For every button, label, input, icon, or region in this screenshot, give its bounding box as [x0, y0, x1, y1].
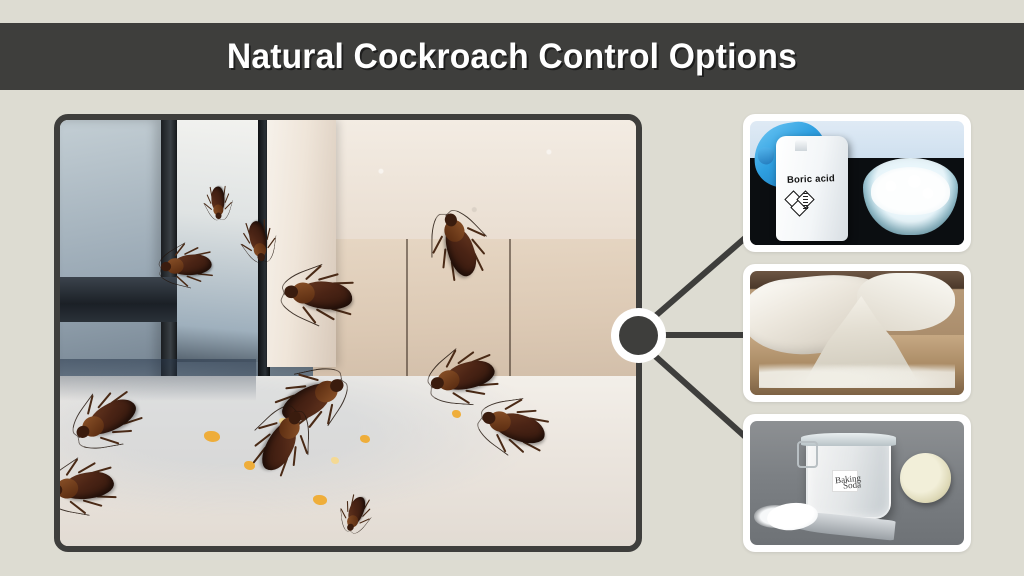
jar-label-line2: Soda	[842, 480, 861, 491]
hub-node[interactable]	[611, 308, 666, 363]
hub-node-dot	[619, 316, 658, 355]
label-fineprint	[803, 193, 807, 210]
diatomaceous-earth-image	[750, 271, 964, 395]
photo-door-threshold	[60, 277, 177, 322]
food-crumb	[313, 495, 327, 505]
main-photo-frame	[54, 114, 642, 552]
cockroach-infestation-photo	[60, 120, 636, 546]
glove-finger	[758, 147, 776, 165]
glass-jar: Baking Soda	[806, 437, 892, 519]
baking-soda-image: Baking Soda	[750, 421, 964, 545]
boric-acid-label: Boric acid	[787, 173, 835, 186]
cockroach	[159, 250, 218, 280]
food-crumb	[204, 431, 220, 442]
page-title: Natural Cockroach Control Options	[227, 37, 797, 77]
cockroach	[281, 273, 362, 317]
jar-label: Baking Soda	[832, 470, 858, 492]
boric-acid-image: Boric acid	[750, 121, 964, 245]
food-crumb	[331, 457, 339, 464]
photo-door-jamb	[267, 120, 336, 367]
photo-floor-shadow	[60, 359, 256, 402]
bottle-cap	[795, 140, 807, 151]
cockroach	[209, 182, 227, 220]
baking-soda-thumbnail[interactable]: Baking Soda	[743, 414, 971, 552]
jar-clamp	[797, 441, 818, 468]
boric-acid-bottle: Boric acid	[776, 136, 849, 241]
white-crystals	[871, 167, 950, 215]
diatomaceous-earth-thumbnail[interactable]	[743, 264, 971, 402]
boric-acid-thumbnail[interactable]: Boric acid	[743, 114, 971, 252]
jar-lid	[900, 453, 951, 503]
food-crumb	[452, 410, 461, 418]
powder-dust	[759, 360, 956, 387]
header-bar: Natural Cockroach Control Options	[0, 23, 1024, 90]
slide-canvas: Natural Cockroach Control Options	[0, 0, 1024, 576]
